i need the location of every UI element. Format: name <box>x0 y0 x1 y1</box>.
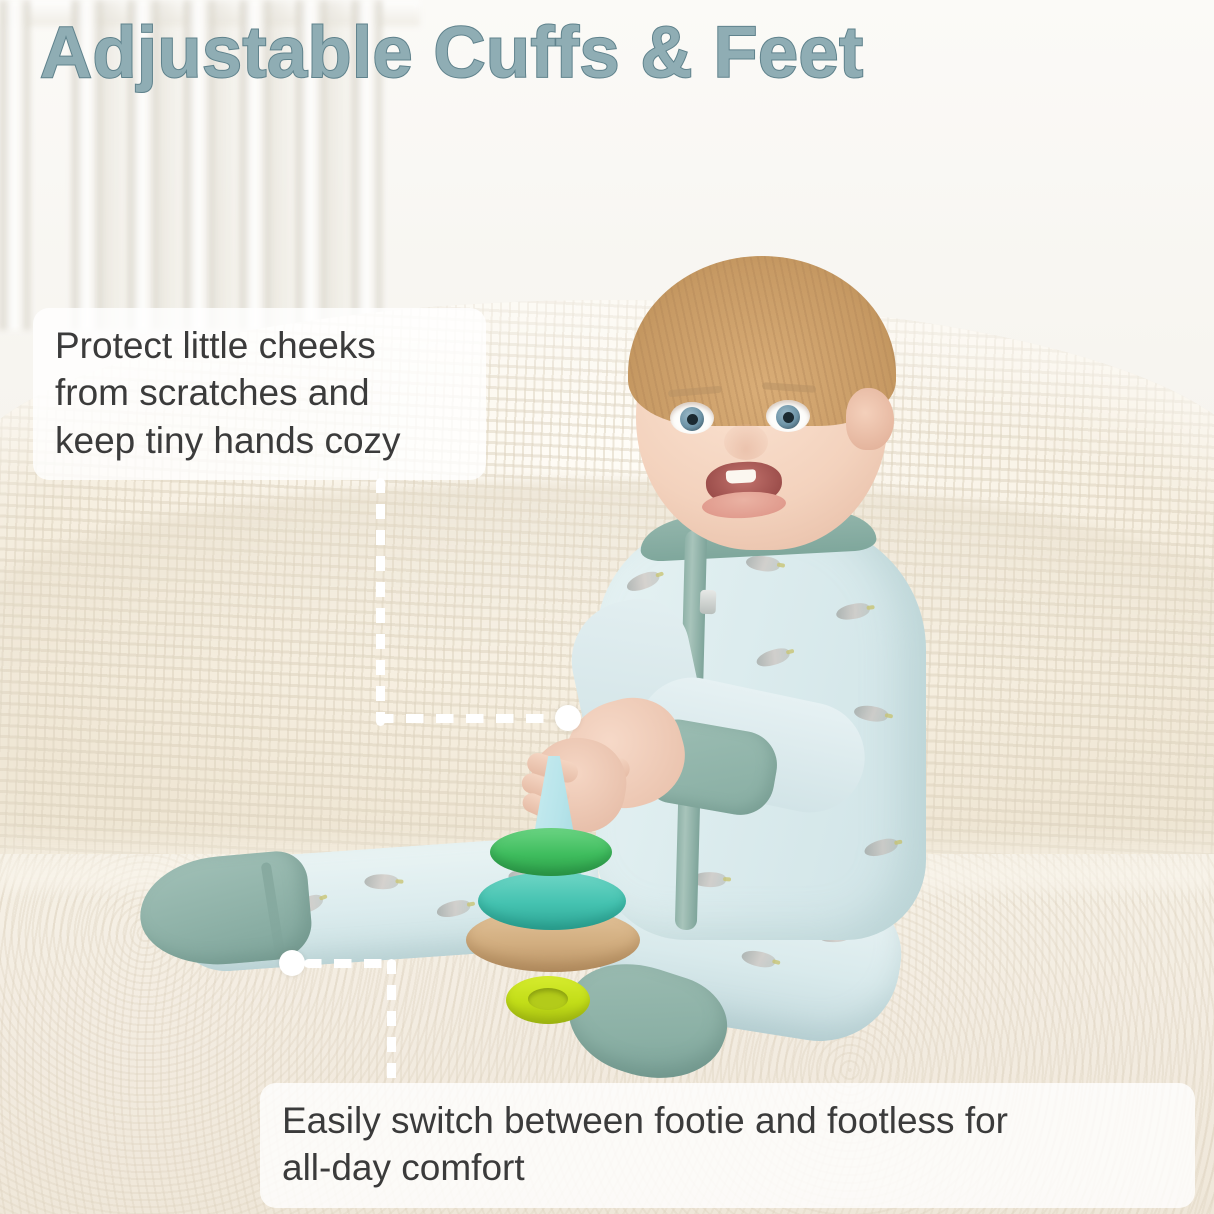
duck-print-motif <box>364 873 399 890</box>
duck-print-motif <box>740 947 777 970</box>
connector-horizontal-segment <box>376 714 572 723</box>
iris <box>776 405 800 429</box>
sleeve-cuff-marker-dot <box>555 705 581 731</box>
baby-teeth <box>726 469 757 484</box>
toy-ring-green <box>490 828 612 876</box>
connector-vertical-segment <box>387 959 396 1087</box>
product-infographic: Adjustable Cuffs & Feet Protect little c… <box>0 0 1214 1214</box>
pupil <box>783 412 794 423</box>
callout-cuffs: Protect little cheeks from scratches and… <box>33 308 486 480</box>
callout-feet-line-1: Easily switch between footie and footles… <box>282 1097 1173 1144</box>
iris <box>680 407 704 431</box>
zipper-pull <box>700 590 717 615</box>
toy-ring-lime-hole <box>528 988 568 1010</box>
baby-subject <box>0 0 1214 1214</box>
page-title: Adjustable Cuffs & Feet <box>40 16 1040 92</box>
duck-print-motif <box>755 646 792 669</box>
callout-feet-line-2: all-day comfort <box>282 1144 1173 1191</box>
callout-feet: Easily switch between footie and footles… <box>260 1083 1195 1208</box>
duck-print-motif <box>853 703 889 725</box>
duck-print-motif <box>835 602 871 622</box>
baby-nose <box>724 424 768 460</box>
duck-print-motif <box>625 569 662 594</box>
connector-horizontal-segment <box>304 959 396 968</box>
callout-cuffs-line-1: Protect little cheeks <box>55 322 464 369</box>
connector-vertical-segment <box>376 478 385 726</box>
callout-cuffs-line-3: keep tiny hands cozy <box>55 417 464 464</box>
baby-eye-right <box>766 400 810 432</box>
callout-cuffs-line-2: from scratches and <box>55 369 464 416</box>
duck-print-motif <box>863 837 899 859</box>
toy-ring-teal <box>478 872 626 930</box>
baby-ear <box>846 388 894 450</box>
pupil <box>687 414 698 425</box>
duck-print-motif <box>435 898 471 919</box>
baby-eye-left <box>670 402 714 434</box>
footie-foot-marker-dot <box>279 950 305 976</box>
